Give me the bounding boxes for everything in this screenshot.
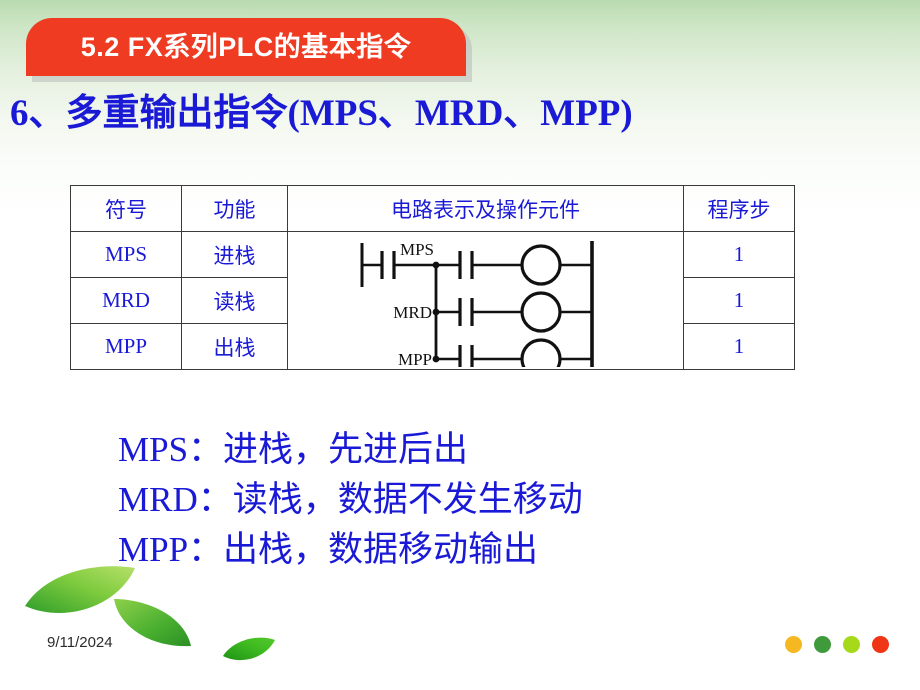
leaf-medium-icon — [110, 595, 194, 651]
cell-function-mps: 进栈 — [182, 232, 288, 278]
description-line-mps: MPS：进栈，先进后出 — [118, 425, 583, 475]
ladder-diagram-svg: MPS MRD MPP — [336, 235, 636, 367]
cell-steps-mps: 1 — [684, 232, 795, 278]
ladder-label-mrd: MRD — [393, 303, 432, 322]
cell-steps-mpp: 1 — [684, 324, 795, 370]
header-cell-symbol: 符号 — [71, 186, 182, 232]
table-row: MPS 进栈 — [71, 232, 795, 278]
cell-function-mpp: 出栈 — [182, 324, 288, 370]
banner-title-text: 5.2 FX系列PLC的基本指令 — [81, 34, 412, 61]
description-block: MPS：进栈，先进后出 MRD：读栈，数据不发生移动 MPP：出栈，数据移动输出 — [118, 425, 583, 575]
cell-symbol-mrd: MRD — [71, 278, 182, 324]
header-cell-circuit: 电路表示及操作元件 — [288, 186, 684, 232]
header-cell-function: 功能 — [182, 186, 288, 232]
ladder-label-mpp: MPP — [397, 350, 431, 367]
dot-green-icon — [814, 636, 831, 653]
slide-canvas: 5.2 FX系列PLC的基本指令 6、多重输出指令(MPS、MRD、MPP) 符… — [0, 0, 920, 690]
description-line-mrd: MRD：读栈，数据不发生移动 — [118, 475, 583, 525]
cell-symbol-mpp: MPP — [71, 324, 182, 370]
cell-steps-mrd: 1 — [684, 278, 795, 324]
title-banner-body: 5.2 FX系列PLC的基本指令 — [26, 18, 466, 76]
dot-red-icon — [872, 636, 889, 653]
decorative-dots — [785, 636, 889, 653]
dot-lime-icon — [843, 636, 860, 653]
cell-circuit-diagram: MPS MRD MPP — [288, 232, 684, 370]
ladder-label-mps: MPS — [399, 240, 433, 259]
header-cell-steps: 程序步 — [684, 186, 795, 232]
dot-orange-icon — [785, 636, 802, 653]
slide-date: 9/11/2024 — [47, 634, 113, 651]
section-heading: 6、多重输出指令(MPS、MRD、MPP) — [10, 93, 633, 136]
leaf-small-icon — [222, 636, 276, 666]
table-header-row: 符号 功能 电路表示及操作元件 程序步 — [71, 186, 795, 232]
cell-function-mrd: 读栈 — [182, 278, 288, 324]
description-line-mpp: MPP：出栈，数据移动输出 — [118, 525, 583, 575]
cell-symbol-mps: MPS — [71, 232, 182, 278]
instruction-table: 符号 功能 电路表示及操作元件 程序步 MPS 进栈 — [70, 185, 795, 370]
